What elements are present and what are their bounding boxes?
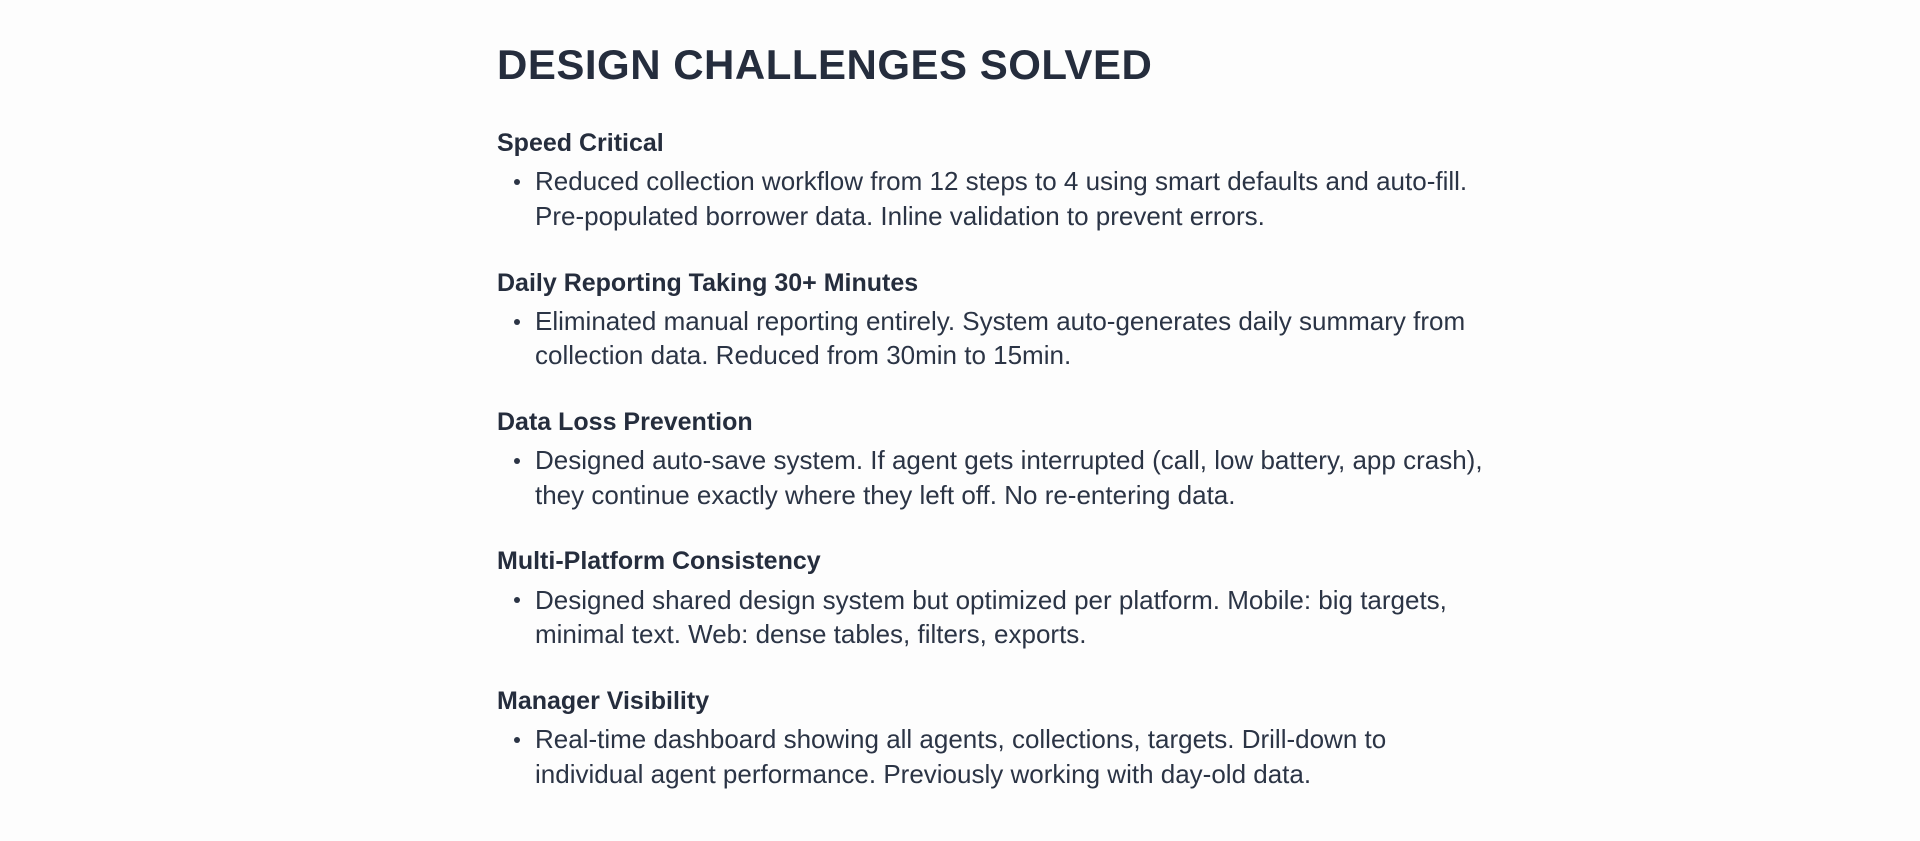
section-heading: Data Loss Prevention bbox=[497, 407, 1497, 438]
bullet-point-icon bbox=[514, 319, 520, 325]
section-speed-critical: Speed Critical Reduced collection workfl… bbox=[497, 128, 1497, 233]
bullet-list: Designed auto-save system. If agent gets… bbox=[497, 443, 1497, 512]
list-item: Designed auto-save system. If agent gets… bbox=[497, 443, 1497, 512]
section-multi-platform-consistency: Multi-Platform Consistency Designed shar… bbox=[497, 546, 1497, 651]
list-item-text: Designed auto-save system. If agent gets… bbox=[535, 445, 1483, 510]
section-heading: Multi-Platform Consistency bbox=[497, 546, 1497, 577]
bullet-list: Eliminated manual reporting entirely. Sy… bbox=[497, 304, 1497, 373]
section-data-loss-prevention: Data Loss Prevention Designed auto-save … bbox=[497, 407, 1497, 512]
list-item-text: Reduced collection workflow from 12 step… bbox=[535, 166, 1467, 231]
list-item: Real-time dashboard showing all agents, … bbox=[497, 722, 1497, 791]
slide-canvas: DESIGN CHALLENGES SOLVED Speed Critical … bbox=[0, 0, 1920, 841]
list-item: Eliminated manual reporting entirely. Sy… bbox=[497, 304, 1497, 373]
page-title: DESIGN CHALLENGES SOLVED bbox=[497, 42, 1497, 88]
bullet-list: Reduced collection workflow from 12 step… bbox=[497, 164, 1497, 233]
bullet-point-icon bbox=[514, 179, 520, 185]
bullet-point-icon bbox=[514, 737, 520, 743]
list-item-text: Real-time dashboard showing all agents, … bbox=[535, 724, 1386, 789]
section-heading: Daily Reporting Taking 30+ Minutes bbox=[497, 268, 1497, 299]
content-column: DESIGN CHALLENGES SOLVED Speed Critical … bbox=[497, 42, 1497, 791]
section-daily-reporting: Daily Reporting Taking 30+ Minutes Elimi… bbox=[497, 268, 1497, 373]
bullet-list: Real-time dashboard showing all agents, … bbox=[497, 722, 1497, 791]
list-item-text: Designed shared design system but optimi… bbox=[535, 585, 1447, 650]
list-item: Reduced collection workflow from 12 step… bbox=[497, 164, 1497, 233]
bullet-point-icon bbox=[514, 597, 520, 603]
section-manager-visibility: Manager Visibility Real-time dashboard s… bbox=[497, 686, 1497, 791]
bullet-point-icon bbox=[514, 458, 520, 464]
bullet-list: Designed shared design system but optimi… bbox=[497, 583, 1497, 652]
section-heading: Speed Critical bbox=[497, 128, 1497, 159]
list-item-text: Eliminated manual reporting entirely. Sy… bbox=[535, 306, 1465, 371]
section-heading: Manager Visibility bbox=[497, 686, 1497, 717]
list-item: Designed shared design system but optimi… bbox=[497, 583, 1497, 652]
